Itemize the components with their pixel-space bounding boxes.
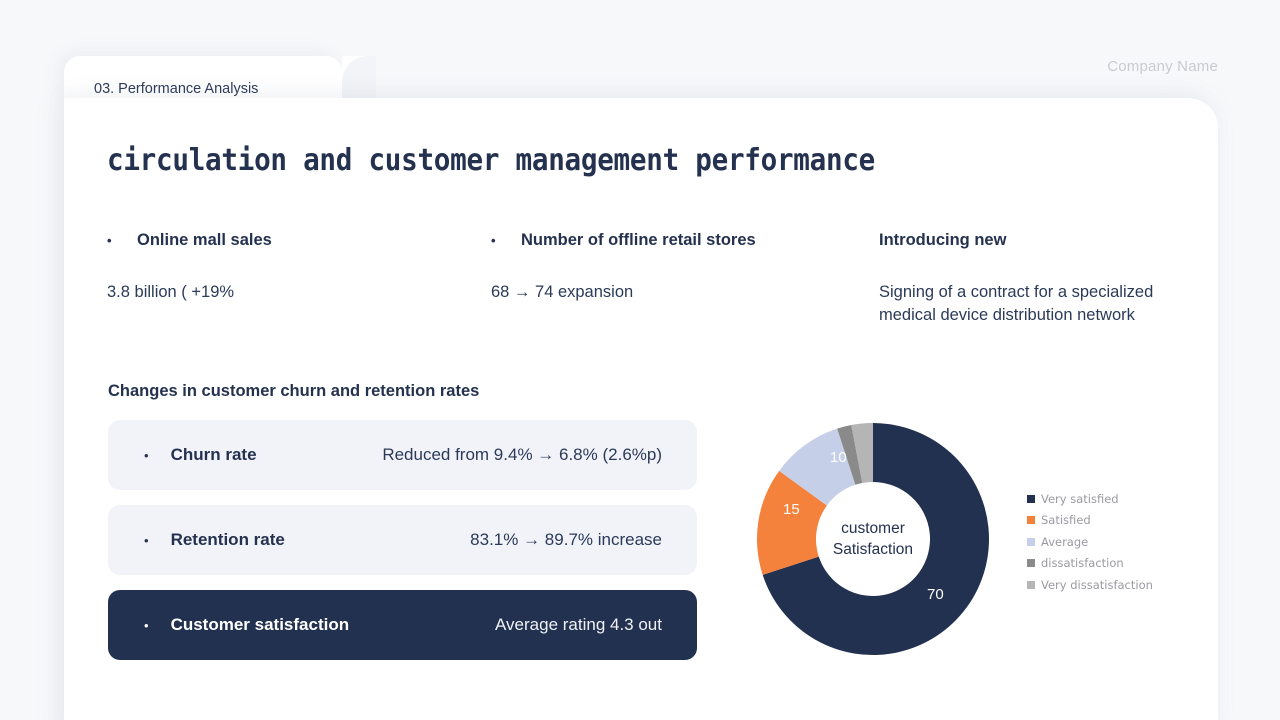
metric-row-churn-rate[interactable]: • Churn rate Reduced from 9.4% → 6.8% (2… (108, 420, 697, 490)
bullet-icon: • (144, 619, 149, 632)
legend-swatch-icon (1027, 538, 1035, 546)
bullet-icon: • (144, 534, 149, 547)
legend-label: Average (1041, 535, 1088, 549)
legend-swatch-icon (1027, 495, 1035, 503)
kpi-online-mall-sales: • Online mall sales 3.8 billion ( +19% (107, 231, 272, 304)
metric-value: 83.1% → 89.7% increase (470, 530, 662, 550)
legend-item[interactable]: Average (1027, 531, 1153, 553)
metric-label: Retention rate (171, 530, 285, 550)
legend-swatch-icon (1027, 559, 1035, 567)
legend-label: Very satisfied (1041, 492, 1119, 506)
tab-card-join (64, 98, 342, 104)
satisfaction-donut-chart: customer Satisfaction 70 15 10 (755, 420, 991, 658)
legend-label: Very dissatisfaction (1041, 578, 1153, 592)
metric-value: Reduced from 9.4% → 6.8% (2.6%p) (382, 445, 662, 465)
bullet-icon: • (144, 449, 149, 462)
legend-item[interactable]: dissatisfaction (1027, 553, 1153, 575)
slice-label-average: 10 (830, 449, 847, 466)
metric-label: Churn rate (171, 445, 257, 465)
legend-swatch-icon (1027, 516, 1035, 524)
metric-value: Average rating 4.3 out (495, 615, 662, 635)
tab-label: 03. Performance Analysis (94, 81, 258, 97)
kpi-value: Signing of a contract for a specialized … (879, 281, 1179, 326)
slice-label-satisfied: 15 (783, 501, 800, 518)
kpi-value: 3.8 billion ( +19% (107, 281, 272, 304)
legend-swatch-icon (1027, 581, 1035, 589)
kpi-title: Number of offline retail stores (521, 231, 756, 250)
kpi-introducing-new: Introducing new Signing of a contract fo… (879, 231, 1179, 326)
legend-item[interactable]: Satisfied (1027, 510, 1153, 532)
page-title: circulation and customer management perf… (107, 143, 875, 178)
legend-item[interactable]: Very dissatisfaction (1027, 574, 1153, 596)
kpi-title: Online mall sales (137, 231, 272, 250)
legend-item[interactable]: Very satisfied (1027, 488, 1153, 510)
metric-row-retention-rate[interactable]: • Retention rate 83.1% → 89.7% increase (108, 505, 697, 575)
company-name: Company Name (1107, 58, 1218, 75)
section-title: Changes in customer churn and retention … (108, 382, 479, 401)
bullet-icon: • (491, 234, 509, 247)
metric-row-customer-satisfaction[interactable]: • Customer satisfaction Average rating 4… (108, 590, 697, 660)
chart-legend: Very satisfiedSatisfiedAveragedissatisfa… (1027, 488, 1153, 596)
slice-label-very-satisfied: 70 (927, 586, 944, 603)
kpi-header: • Online mall sales (107, 231, 272, 250)
kpi-offline-retail-stores: • Number of offline retail stores 68 → 7… (491, 231, 756, 304)
slide-root: Company Name 03. Performance Analysis ci… (0, 0, 1280, 720)
metric-label: Customer satisfaction (171, 615, 350, 635)
legend-label: dissatisfaction (1041, 556, 1124, 570)
kpi-header: • Number of offline retail stores (491, 231, 756, 250)
donut-svg (755, 420, 991, 658)
kpi-header: Introducing new (879, 231, 1179, 250)
bullet-icon: • (107, 234, 125, 247)
kpi-title: Introducing new (879, 231, 1006, 250)
legend-label: Satisfied (1041, 513, 1091, 527)
tab-corner-decoration (342, 56, 376, 102)
kpi-value: 68 → 74 expansion (491, 281, 756, 304)
